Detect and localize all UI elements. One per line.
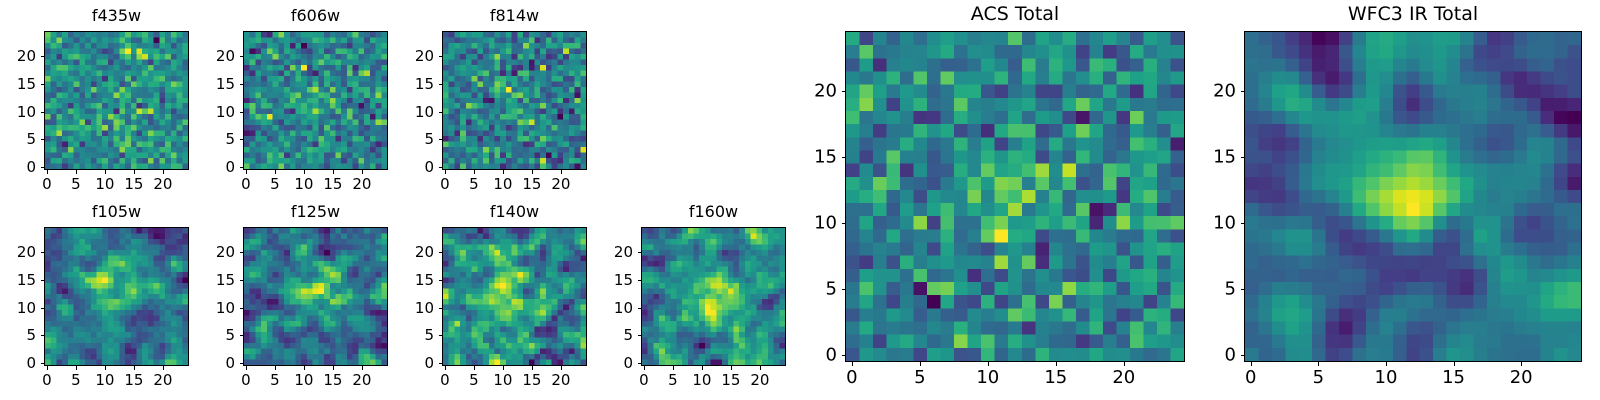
y-tick-label: 0 (394, 354, 434, 372)
x-tick-label: 10 (493, 175, 512, 193)
axes-f814w (442, 31, 587, 170)
y-tick-mark (842, 355, 846, 356)
x-tick-mark (47, 170, 48, 174)
y-tick-mark (638, 280, 642, 281)
x-tick-label: 15 (124, 371, 143, 389)
x-tick-mark (246, 170, 247, 174)
panel-title-f140w: f140w (442, 202, 587, 221)
y-tick-mark (842, 289, 846, 290)
y-tick-label: 20 (0, 47, 36, 65)
x-tick-mark (275, 366, 276, 370)
x-tick-mark (1056, 362, 1057, 366)
x-tick-label: 15 (522, 175, 541, 193)
y-tick-mark (240, 363, 244, 364)
axes-acs-total (845, 31, 1185, 362)
x-tick-label: 0 (42, 175, 52, 193)
x-tick-mark (76, 366, 77, 370)
y-tick-mark (1241, 355, 1245, 356)
y-tick-mark (1241, 91, 1245, 92)
y-tick-mark (439, 308, 443, 309)
x-tick-label: 5 (914, 367, 925, 388)
y-tick-mark (1241, 289, 1245, 290)
y-tick-mark (842, 91, 846, 92)
y-tick-label: 20 (0, 243, 36, 261)
y-tick-label: 0 (1196, 345, 1236, 366)
x-tick-label: 20 (1510, 367, 1533, 388)
x-tick-mark (673, 366, 674, 370)
y-tick-label: 15 (797, 146, 837, 167)
y-tick-mark (240, 280, 244, 281)
x-tick-label: 10 (294, 175, 313, 193)
x-tick-mark (503, 170, 504, 174)
y-tick-label: 10 (797, 212, 837, 233)
y-tick-label: 5 (195, 130, 235, 148)
x-tick-mark (362, 366, 363, 370)
y-tick-label: 0 (0, 158, 36, 176)
x-tick-label: 5 (469, 371, 479, 389)
y-tick-label: 20 (1196, 80, 1236, 101)
x-tick-mark (275, 170, 276, 174)
axes-f125w (243, 227, 388, 366)
x-tick-label: 0 (639, 371, 649, 389)
x-tick-label: 15 (522, 371, 541, 389)
y-tick-label: 5 (797, 279, 837, 300)
y-tick-mark (240, 167, 244, 168)
x-tick-label: 10 (1375, 367, 1398, 388)
x-tick-label: 5 (469, 175, 479, 193)
y-tick-label: 20 (797, 80, 837, 101)
x-tick-label: 0 (440, 371, 450, 389)
y-tick-mark (240, 335, 244, 336)
x-tick-mark (445, 366, 446, 370)
y-tick-label: 0 (593, 354, 633, 372)
y-tick-label: 20 (195, 47, 235, 65)
x-tick-label: 10 (976, 367, 999, 388)
x-tick-mark (1124, 362, 1125, 366)
x-tick-label: 5 (270, 175, 280, 193)
heatmap-image-wfc3-ir-total (1245, 32, 1581, 361)
x-tick-mark (920, 362, 921, 366)
axes-f435w (44, 31, 189, 170)
heatmap-image-f814w (443, 32, 586, 169)
y-tick-label: 5 (1196, 279, 1236, 300)
x-tick-label: 20 (153, 175, 172, 193)
y-tick-label: 0 (195, 158, 235, 176)
x-tick-label: 5 (1313, 367, 1324, 388)
x-tick-mark (47, 366, 48, 370)
y-tick-mark (41, 308, 45, 309)
x-tick-label: 5 (71, 175, 81, 193)
panel-title-f814w: f814w (442, 6, 587, 25)
y-tick-mark (638, 308, 642, 309)
x-tick-mark (532, 366, 533, 370)
y-tick-mark (41, 252, 45, 253)
x-tick-label: 20 (1112, 367, 1135, 388)
x-tick-label: 20 (153, 371, 172, 389)
x-tick-mark (1318, 362, 1319, 366)
y-tick-mark (240, 252, 244, 253)
y-tick-label: 0 (195, 354, 235, 372)
y-tick-label: 20 (195, 243, 235, 261)
y-tick-label: 15 (0, 271, 36, 289)
y-tick-label: 0 (797, 345, 837, 366)
y-tick-label: 20 (394, 243, 434, 261)
y-tick-mark (240, 56, 244, 57)
x-tick-label: 15 (124, 175, 143, 193)
x-tick-mark (163, 366, 164, 370)
y-tick-mark (439, 363, 443, 364)
y-tick-label: 20 (394, 47, 434, 65)
y-tick-mark (439, 167, 443, 168)
y-tick-label: 5 (593, 326, 633, 344)
x-tick-label: 0 (241, 371, 251, 389)
y-tick-label: 15 (195, 271, 235, 289)
x-tick-mark (1454, 362, 1455, 366)
x-tick-mark (532, 170, 533, 174)
panel-title-f435w: f435w (44, 6, 189, 25)
x-tick-label: 0 (846, 367, 857, 388)
x-tick-mark (1521, 362, 1522, 366)
heatmap-image-f105w (45, 228, 188, 365)
x-tick-label: 0 (440, 175, 450, 193)
heatmap-image-f140w (443, 228, 586, 365)
x-tick-label: 20 (352, 175, 371, 193)
x-tick-mark (333, 366, 334, 370)
panel-title-f606w: f606w (243, 6, 388, 25)
y-tick-label: 10 (593, 299, 633, 317)
x-tick-mark (731, 366, 732, 370)
y-tick-mark (1241, 157, 1245, 158)
x-tick-mark (644, 366, 645, 370)
y-tick-mark (638, 363, 642, 364)
x-tick-mark (105, 366, 106, 370)
y-tick-label: 15 (0, 75, 36, 93)
x-tick-label: 5 (668, 371, 678, 389)
y-tick-mark (41, 56, 45, 57)
y-tick-label: 10 (0, 299, 36, 317)
y-tick-label: 15 (593, 271, 633, 289)
y-tick-label: 0 (394, 158, 434, 176)
panel-title-f160w: f160w (641, 202, 786, 221)
x-tick-mark (304, 170, 305, 174)
y-tick-mark (842, 157, 846, 158)
y-tick-label: 5 (394, 326, 434, 344)
y-tick-mark (439, 112, 443, 113)
x-tick-mark (76, 170, 77, 174)
x-tick-mark (988, 362, 989, 366)
x-tick-label: 5 (71, 371, 81, 389)
heatmap-image-f125w (244, 228, 387, 365)
x-tick-label: 10 (95, 175, 114, 193)
y-tick-mark (41, 84, 45, 85)
x-tick-label: 5 (270, 371, 280, 389)
y-tick-mark (638, 252, 642, 253)
y-tick-label: 15 (1196, 146, 1236, 167)
x-tick-label: 0 (42, 371, 52, 389)
x-tick-mark (474, 366, 475, 370)
x-tick-mark (1386, 362, 1387, 366)
axes-f606w (243, 31, 388, 170)
x-tick-mark (561, 366, 562, 370)
y-tick-label: 10 (1196, 212, 1236, 233)
x-tick-label: 10 (95, 371, 114, 389)
y-tick-label: 5 (394, 130, 434, 148)
x-tick-label: 15 (1442, 367, 1465, 388)
y-tick-label: 5 (0, 326, 36, 344)
y-tick-mark (41, 335, 45, 336)
heatmap-image-f160w (642, 228, 785, 365)
x-tick-mark (503, 366, 504, 370)
y-tick-mark (439, 84, 443, 85)
heatmap-image-f606w (244, 32, 387, 169)
y-tick-mark (439, 139, 443, 140)
x-tick-label: 20 (750, 371, 769, 389)
x-tick-mark (474, 170, 475, 174)
y-tick-mark (638, 335, 642, 336)
x-tick-mark (445, 170, 446, 174)
x-tick-mark (163, 170, 164, 174)
x-tick-label: 15 (1044, 367, 1067, 388)
x-tick-mark (561, 170, 562, 174)
panel-title-f125w: f125w (243, 202, 388, 221)
y-tick-mark (240, 308, 244, 309)
x-tick-label: 20 (551, 371, 570, 389)
x-tick-label: 20 (551, 175, 570, 193)
x-tick-mark (852, 362, 853, 366)
y-tick-mark (41, 280, 45, 281)
x-tick-mark (246, 366, 247, 370)
y-tick-mark (41, 112, 45, 113)
x-tick-mark (702, 366, 703, 370)
y-tick-mark (439, 280, 443, 281)
x-tick-mark (134, 170, 135, 174)
x-tick-mark (304, 366, 305, 370)
y-tick-mark (240, 112, 244, 113)
x-tick-mark (1251, 362, 1252, 366)
y-tick-mark (41, 363, 45, 364)
x-tick-label: 15 (721, 371, 740, 389)
x-tick-label: 10 (294, 371, 313, 389)
y-tick-mark (240, 139, 244, 140)
heatmap-image-f435w (45, 32, 188, 169)
y-tick-mark (439, 335, 443, 336)
y-tick-mark (41, 167, 45, 168)
y-tick-label: 10 (195, 103, 235, 121)
y-tick-label: 10 (195, 299, 235, 317)
y-tick-label: 15 (195, 75, 235, 93)
x-tick-label: 15 (323, 371, 342, 389)
axes-wfc3-ir-total (1244, 31, 1582, 362)
axes-f160w (641, 227, 786, 366)
y-tick-label: 20 (593, 243, 633, 261)
y-tick-label: 10 (394, 103, 434, 121)
y-tick-label: 5 (195, 326, 235, 344)
y-tick-mark (240, 84, 244, 85)
y-tick-mark (439, 252, 443, 253)
axes-f105w (44, 227, 189, 366)
y-tick-mark (1241, 223, 1245, 224)
heatmap-image-acs-total (846, 32, 1184, 361)
panel-title-wfc3-ir-total: WFC3 IR Total (1244, 3, 1582, 25)
y-tick-mark (439, 56, 443, 57)
y-tick-label: 10 (394, 299, 434, 317)
x-tick-mark (134, 366, 135, 370)
x-tick-label: 0 (241, 175, 251, 193)
x-tick-label: 10 (493, 371, 512, 389)
axes-f140w (442, 227, 587, 366)
y-tick-label: 5 (0, 130, 36, 148)
y-tick-label: 15 (394, 271, 434, 289)
x-tick-mark (333, 170, 334, 174)
x-tick-label: 15 (323, 175, 342, 193)
y-tick-label: 15 (394, 75, 434, 93)
y-tick-label: 10 (0, 103, 36, 121)
panel-title-acs-total: ACS Total (845, 3, 1185, 25)
x-tick-label: 10 (692, 371, 711, 389)
panel-title-f105w: f105w (44, 202, 189, 221)
x-tick-label: 0 (1245, 367, 1256, 388)
y-tick-label: 0 (0, 354, 36, 372)
x-tick-mark (362, 170, 363, 174)
x-tick-label: 20 (352, 371, 371, 389)
x-tick-mark (760, 366, 761, 370)
y-tick-mark (842, 223, 846, 224)
x-tick-mark (105, 170, 106, 174)
y-tick-mark (41, 139, 45, 140)
